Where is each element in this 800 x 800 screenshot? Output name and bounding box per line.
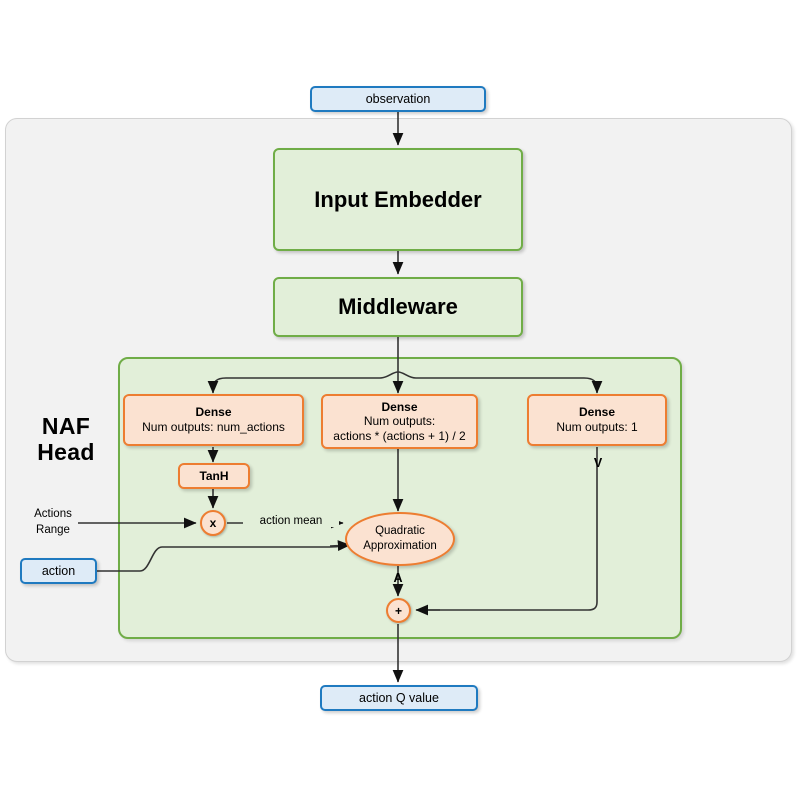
io-box-observation-label: observation <box>366 92 431 106</box>
io-box-action-label: action <box>42 564 75 578</box>
io-box-action[interactable]: action <box>20 558 97 584</box>
block-dense-value-detail: Num outputs: 1 <box>556 420 637 435</box>
operator-add-label: + <box>395 604 402 618</box>
label-value: V <box>586 456 610 470</box>
block-middleware[interactable]: Middleware <box>273 277 523 337</box>
label-actions-range: Actions Range <box>18 507 88 538</box>
block-dense-lower-triangular-detail2: actions * (actions + 1) / 2 <box>333 429 465 444</box>
block-tanh[interactable]: TanH <box>178 463 250 489</box>
operator-multiply[interactable]: x <box>200 510 226 536</box>
block-dense-num-actions-title: Dense <box>195 405 231 420</box>
io-box-action-q-value-label: action Q value <box>359 691 439 705</box>
block-dense-num-actions[interactable]: Dense Num outputs: num_actions <box>123 394 304 446</box>
block-dense-value-title: Dense <box>579 405 615 420</box>
block-dense-num-actions-detail: Num outputs: num_actions <box>142 420 285 435</box>
block-dense-lower-triangular-title: Dense <box>381 400 417 415</box>
block-quadratic-approximation[interactable]: Quadratic Approximation <box>345 512 455 566</box>
block-dense-lower-triangular[interactable]: Dense Num outputs: actions * (actions + … <box>321 394 478 449</box>
label-advantage: A <box>386 571 410 585</box>
naf-head-title: NAF Head <box>20 414 112 466</box>
block-tanh-label: TanH <box>199 469 228 484</box>
io-box-observation[interactable]: observation <box>310 86 486 112</box>
block-quadratic-approximation-label: Quadratic Approximation <box>363 524 437 554</box>
io-box-action-q-value[interactable]: action Q value <box>320 685 478 711</box>
label-action-mean: action mean <box>243 515 339 527</box>
block-dense-value[interactable]: Dense Num outputs: 1 <box>527 394 667 446</box>
block-input-embedder-label: Input Embedder <box>314 187 481 213</box>
block-input-embedder[interactable]: Input Embedder <box>273 148 523 251</box>
operator-multiply-label: x <box>210 516 217 530</box>
operator-add[interactable]: + <box>386 598 411 623</box>
block-middleware-label: Middleware <box>338 294 458 320</box>
block-dense-lower-triangular-detail: Num outputs: <box>364 414 435 429</box>
diagram-canvas: observation Input Embedder Middleware NA… <box>0 0 800 800</box>
